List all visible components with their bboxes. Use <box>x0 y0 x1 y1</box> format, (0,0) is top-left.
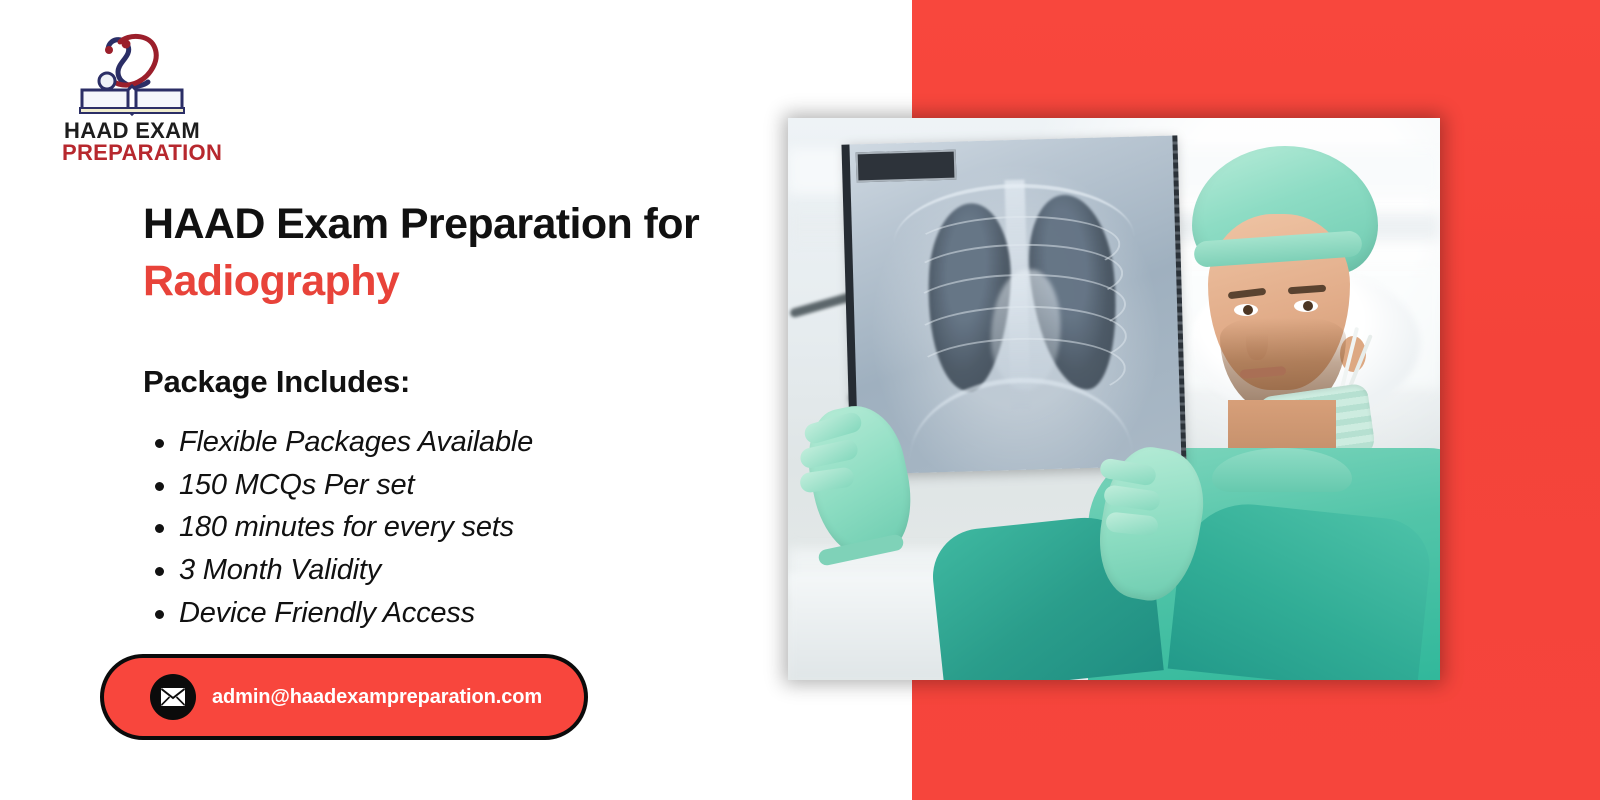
page-title: HAAD Exam Preparation for Radiography <box>143 196 783 310</box>
package-includes-title: Package Includes: <box>143 364 410 400</box>
envelope-glyph <box>160 687 186 707</box>
list-item: 3 Month Validity <box>179 549 533 592</box>
stethoscope-book-icon <box>62 28 202 118</box>
logo-line-2: PREPARATION <box>62 142 202 164</box>
eye-left <box>1234 304 1258 316</box>
radiographer-photo <box>788 118 1440 680</box>
arm-right <box>1168 497 1435 680</box>
list-item: 180 minutes for every sets <box>179 506 533 549</box>
list-item: 150 MCQs Per set <box>179 464 533 507</box>
photo-content <box>788 118 1440 680</box>
logo-line-1: HAAD EXAM <box>62 120 202 142</box>
logo-wordmark: HAAD EXAM PREPARATION <box>62 120 202 165</box>
promo-banner: HAAD EXAM PREPARATION HAAD Exam Preparat… <box>0 0 1600 800</box>
nose <box>1246 316 1268 360</box>
contact-email-text: admin@haadexampreparation.com <box>212 686 542 709</box>
list-item: Flexible Packages Available <box>179 421 533 464</box>
eye-right <box>1294 300 1318 312</box>
film-label-strip <box>856 150 957 183</box>
headline-line-2: Radiography <box>143 253 783 310</box>
headline-line-1: HAAD Exam Preparation for <box>143 196 783 253</box>
logo[interactable]: HAAD EXAM PREPARATION <box>62 28 202 165</box>
chest-xray-film <box>845 135 1184 474</box>
contact-email-button[interactable]: admin@haadexampreparation.com <box>100 654 588 740</box>
package-feature-list: Flexible Packages Available 150 MCQs Per… <box>143 421 533 634</box>
envelope-icon <box>150 674 196 720</box>
list-item: Device Friendly Access <box>179 592 533 635</box>
